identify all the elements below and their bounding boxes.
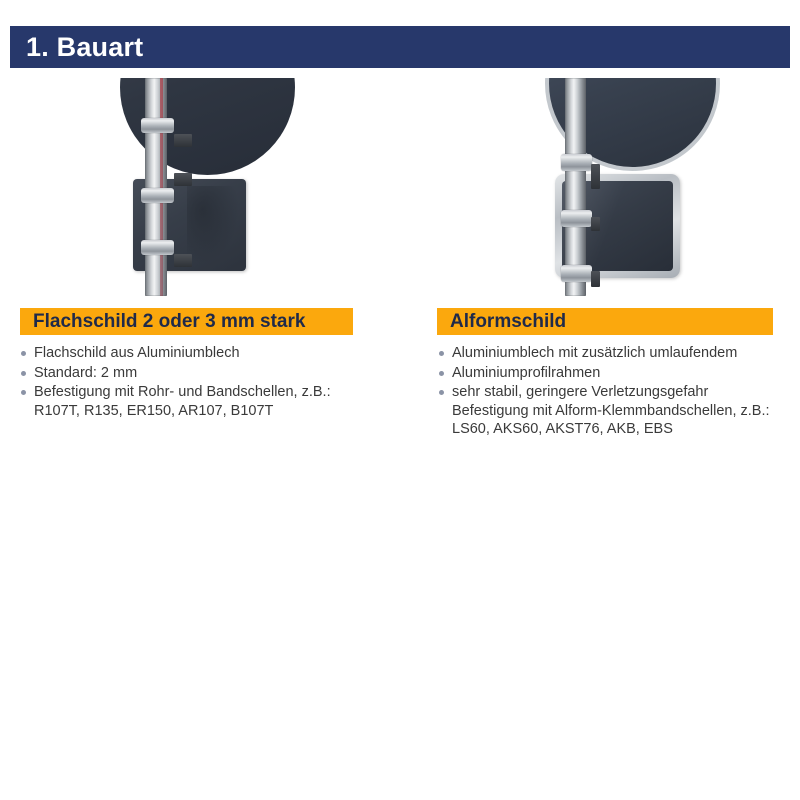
list-item-continuation: Befestigung mit Alform-Klemmbandschellen… bbox=[452, 402, 796, 439]
pole-stripe bbox=[160, 78, 163, 296]
list-item-text: sehr stabil, geringere Verletzungsgefahr bbox=[452, 384, 708, 400]
list-item: Flachschild aus Aluminiumblech bbox=[18, 344, 378, 363]
caption-bar-flachschild: Flachschild 2 oder 3 mm stark bbox=[20, 308, 353, 335]
product-photo-alformschild bbox=[400, 78, 800, 296]
list-item-text: Standard: 2 mm bbox=[34, 365, 137, 381]
steel-pole bbox=[145, 78, 167, 296]
list-item: Aluminiumblech mit zusätzlich umlaufende… bbox=[436, 344, 796, 363]
steel-pole bbox=[565, 78, 586, 296]
clamp-bolt bbox=[174, 254, 192, 267]
caption-bar-alformschild: Alformschild bbox=[437, 308, 773, 335]
list-item: sehr stabil, geringere Verletzungsgefahr… bbox=[436, 383, 796, 439]
clamp-bolt bbox=[591, 271, 600, 287]
caption-label-alformschild: Alformschild bbox=[437, 312, 566, 331]
page-title: 1. Bauart bbox=[10, 34, 143, 61]
alform-clamp bbox=[561, 265, 592, 282]
clamp-bolt bbox=[591, 217, 600, 231]
list-item: Standard: 2 mm bbox=[18, 364, 378, 383]
alform-clamp bbox=[561, 154, 592, 171]
caption-label-flachschild: Flachschild 2 oder 3 mm stark bbox=[20, 312, 305, 331]
clamp-bolt bbox=[591, 164, 600, 189]
list-item-continuation: R107T, R135, ER150, AR107, B107T bbox=[34, 402, 378, 421]
band-clamp bbox=[141, 240, 174, 255]
alform-clamp bbox=[561, 210, 592, 227]
list-item-text: Aluminiumblech mit zusätzlich umlaufende… bbox=[452, 345, 737, 361]
section-header: 1. Bauart bbox=[10, 26, 790, 68]
list-item: Aluminiumprofilrahmen bbox=[436, 364, 796, 383]
feature-list-alformschild: Aluminiumblech mit zusätzlich umlaufende… bbox=[436, 344, 796, 440]
list-item-text: Befestigung mit Rohr- und Bandschellen, … bbox=[34, 384, 331, 400]
band-clamp bbox=[141, 188, 174, 203]
list-item: Befestigung mit Rohr- und Bandschellen, … bbox=[18, 383, 378, 420]
list-item-text: Flachschild aus Aluminiumblech bbox=[34, 345, 240, 361]
list-item-text: Aluminiumprofilrahmen bbox=[452, 365, 600, 381]
product-photo-flachschild bbox=[0, 78, 400, 296]
clamp-bolt bbox=[174, 173, 192, 186]
band-clamp bbox=[141, 118, 174, 133]
clamp-bolt bbox=[174, 134, 192, 147]
feature-list-flachschild: Flachschild aus Aluminiumblech Standard:… bbox=[18, 344, 378, 421]
